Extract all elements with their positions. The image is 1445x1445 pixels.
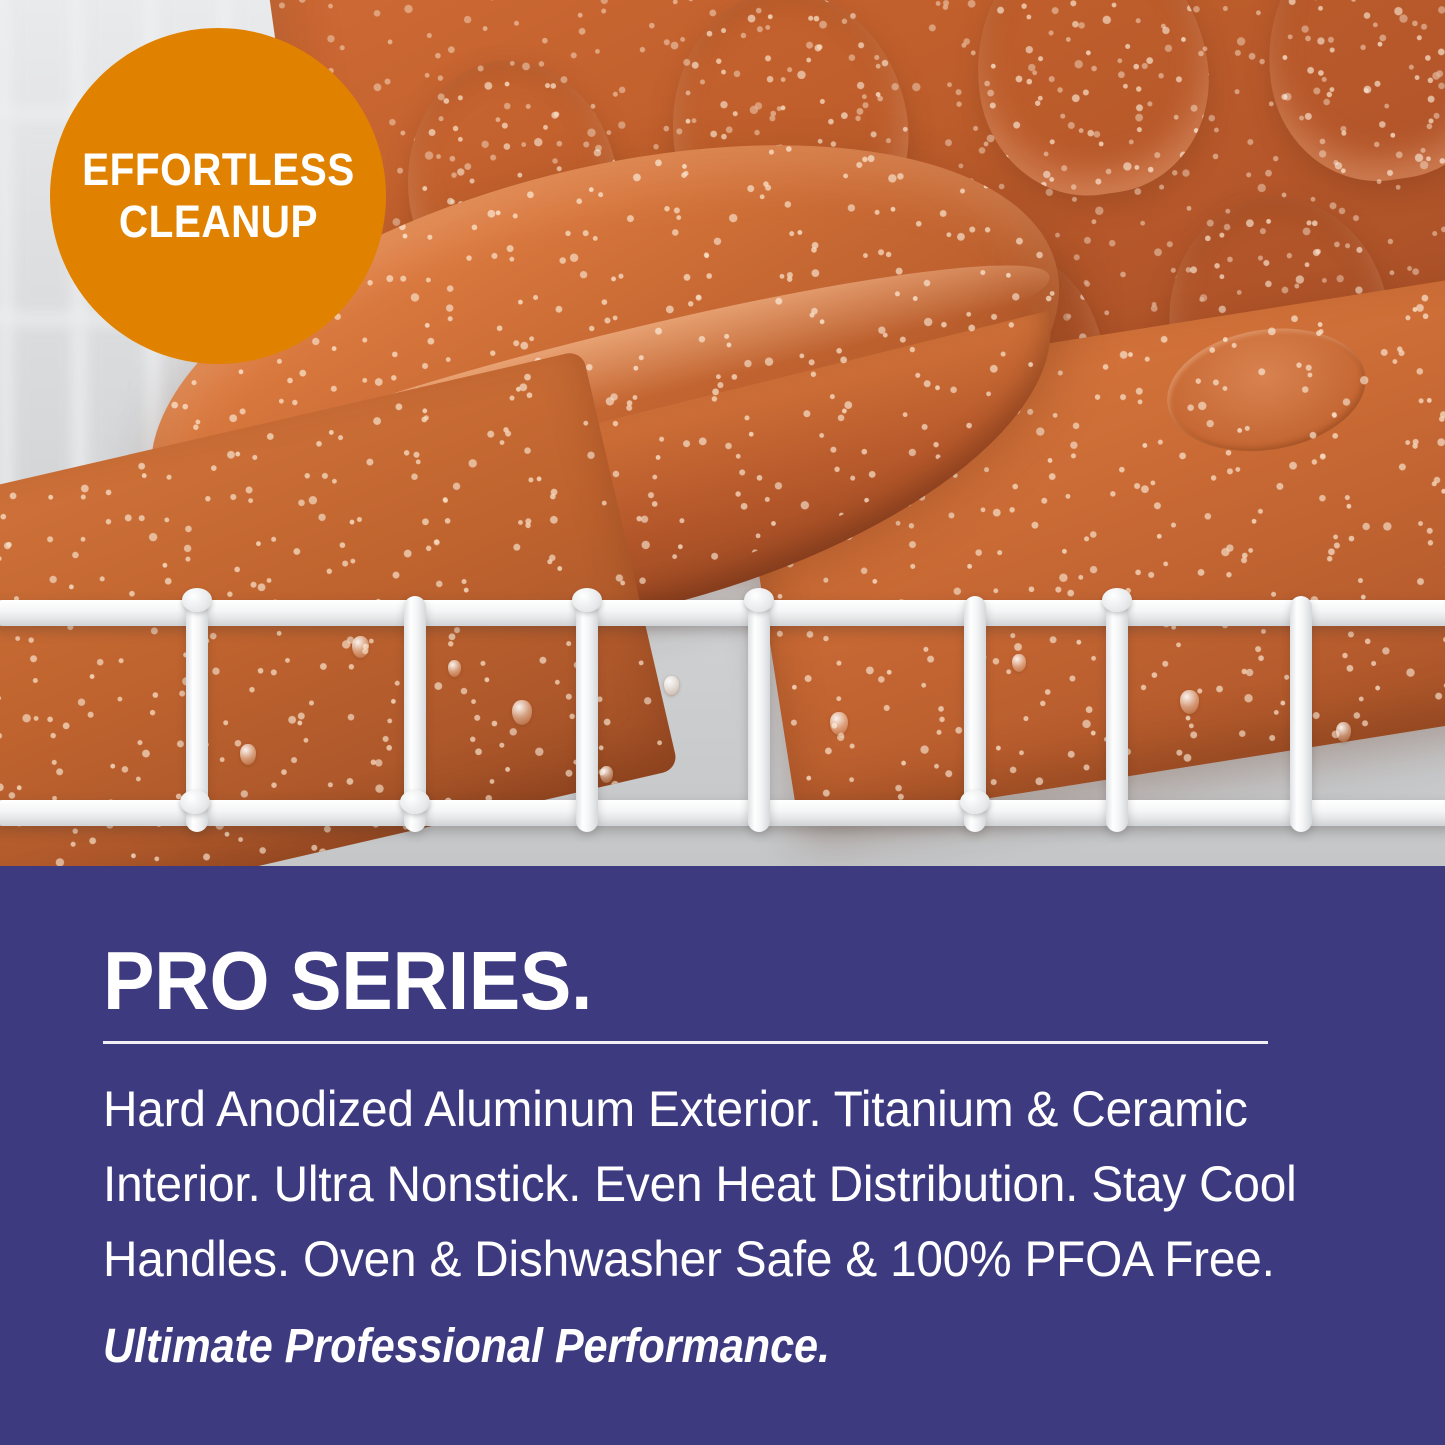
product-photo: EFFORTLESS CLEANUP (0, 0, 1445, 866)
water-droplets (1252, 0, 1445, 195)
tagline: Ultimate Professional Performance. (103, 1321, 830, 1374)
page-title: PRO SERIES. (103, 942, 592, 1021)
brand-emboss-medallion (1158, 315, 1374, 465)
effortless-cleanup-badge: EFFORTLESS CLEANUP (50, 28, 386, 364)
water-droplets (0, 350, 679, 866)
product-feature-creative: EFFORTLESS CLEANUP PRO SERIES. Hard Anod… (0, 0, 1445, 1445)
feature-description: Hard Anodized Aluminum Exterior. Titaniu… (103, 1072, 1297, 1297)
muffin-cup (960, 0, 1224, 209)
lower-left-pan (0, 350, 679, 866)
divider-rule (103, 1041, 1268, 1044)
badge-label: EFFORTLESS CLEANUP (82, 144, 355, 248)
water-droplets (960, 0, 1224, 209)
muffin-cup (1252, 0, 1445, 195)
product-info-panel: PRO SERIES. Hard Anodized Aluminum Exter… (0, 866, 1445, 1445)
